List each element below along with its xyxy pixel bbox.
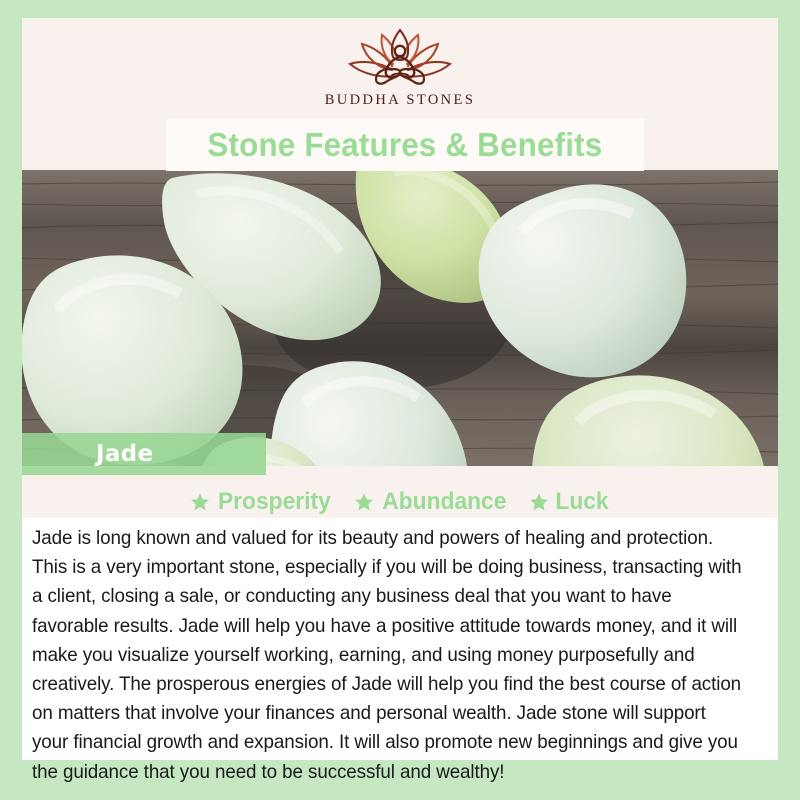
content-card: BUDDHA STONES bbox=[22, 18, 778, 760]
keyword-item-prosperity: Prosperity bbox=[190, 488, 334, 516]
lotus-meditation-icon bbox=[336, 26, 464, 88]
keyword-label: Prosperity bbox=[218, 488, 331, 516]
stone-photo bbox=[22, 170, 778, 466]
star-icon bbox=[190, 492, 210, 512]
stone-name: Jade bbox=[96, 441, 153, 467]
page-title-banner: Stone Features & Benefits bbox=[166, 119, 644, 171]
description-text: Jade is long known and valued for its be… bbox=[32, 524, 742, 787]
brand-header: BUDDHA STONES bbox=[22, 18, 778, 122]
keyword-item-abundance: Abundance bbox=[354, 488, 510, 516]
stone-photo-image bbox=[22, 170, 778, 466]
keyword-label: Abundance bbox=[382, 488, 506, 516]
page-title: Stone Features & Benefits bbox=[208, 126, 603, 164]
keyword-row: Prosperity Abundance Luck bbox=[22, 484, 778, 520]
frame-right-accent bbox=[778, 0, 800, 800]
star-icon bbox=[354, 492, 374, 512]
description-panel: Jade is long known and valued for its be… bbox=[22, 518, 778, 760]
star-icon bbox=[529, 492, 549, 512]
keyword-label: Luck bbox=[556, 488, 609, 516]
brand-name: BUDDHA STONES bbox=[325, 92, 476, 109]
frame-left-accent bbox=[0, 395, 22, 800]
infographic-card: BUDDHA STONES bbox=[0, 0, 800, 800]
stone-name-banner: Jade bbox=[22, 433, 266, 475]
keyword-item-luck: Luck bbox=[529, 488, 610, 516]
frame-top-accent bbox=[0, 0, 800, 18]
